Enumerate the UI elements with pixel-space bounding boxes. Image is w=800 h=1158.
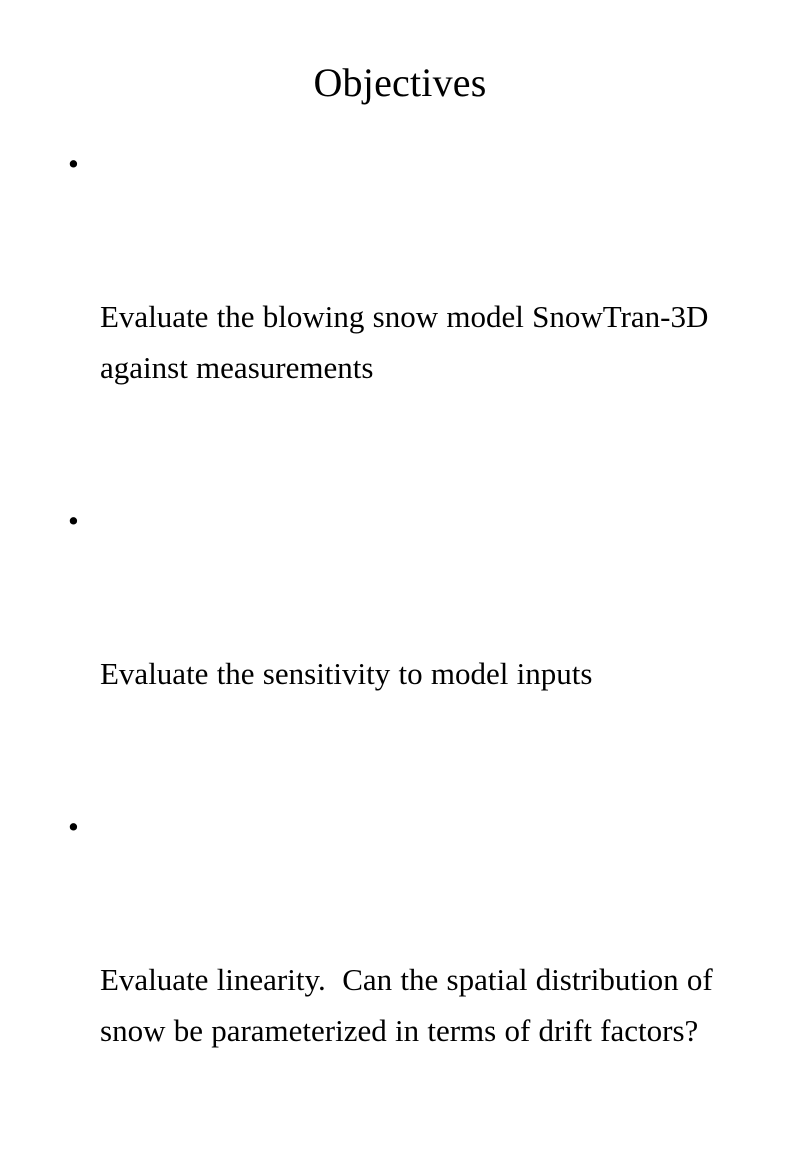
bullet-point-icon: •	[68, 801, 92, 852]
bullet-point-icon: •	[68, 138, 92, 189]
list-item: • Evaluate linearity. Can the spatial di…	[56, 801, 746, 1158]
page-title: Objectives	[0, 59, 800, 107]
bullet-point-icon: •	[68, 495, 92, 546]
list-item: • Evaluate the blowing snow model SnowTr…	[56, 138, 746, 495]
list-item-text: Evaluate linearity. Can the spatial dist…	[100, 954, 746, 1056]
bullet-list: • Evaluate the blowing snow model SnowTr…	[56, 138, 746, 1158]
list-item-text: Evaluate the blowing snow model SnowTran…	[100, 291, 746, 393]
list-item-text: Evaluate the sensitivity to model inputs	[100, 648, 746, 699]
list-item: • Evaluate the sensitivity to model inpu…	[56, 495, 746, 801]
presentation-slide: Objectives • Evaluate the blowing snow m…	[0, 0, 800, 600]
